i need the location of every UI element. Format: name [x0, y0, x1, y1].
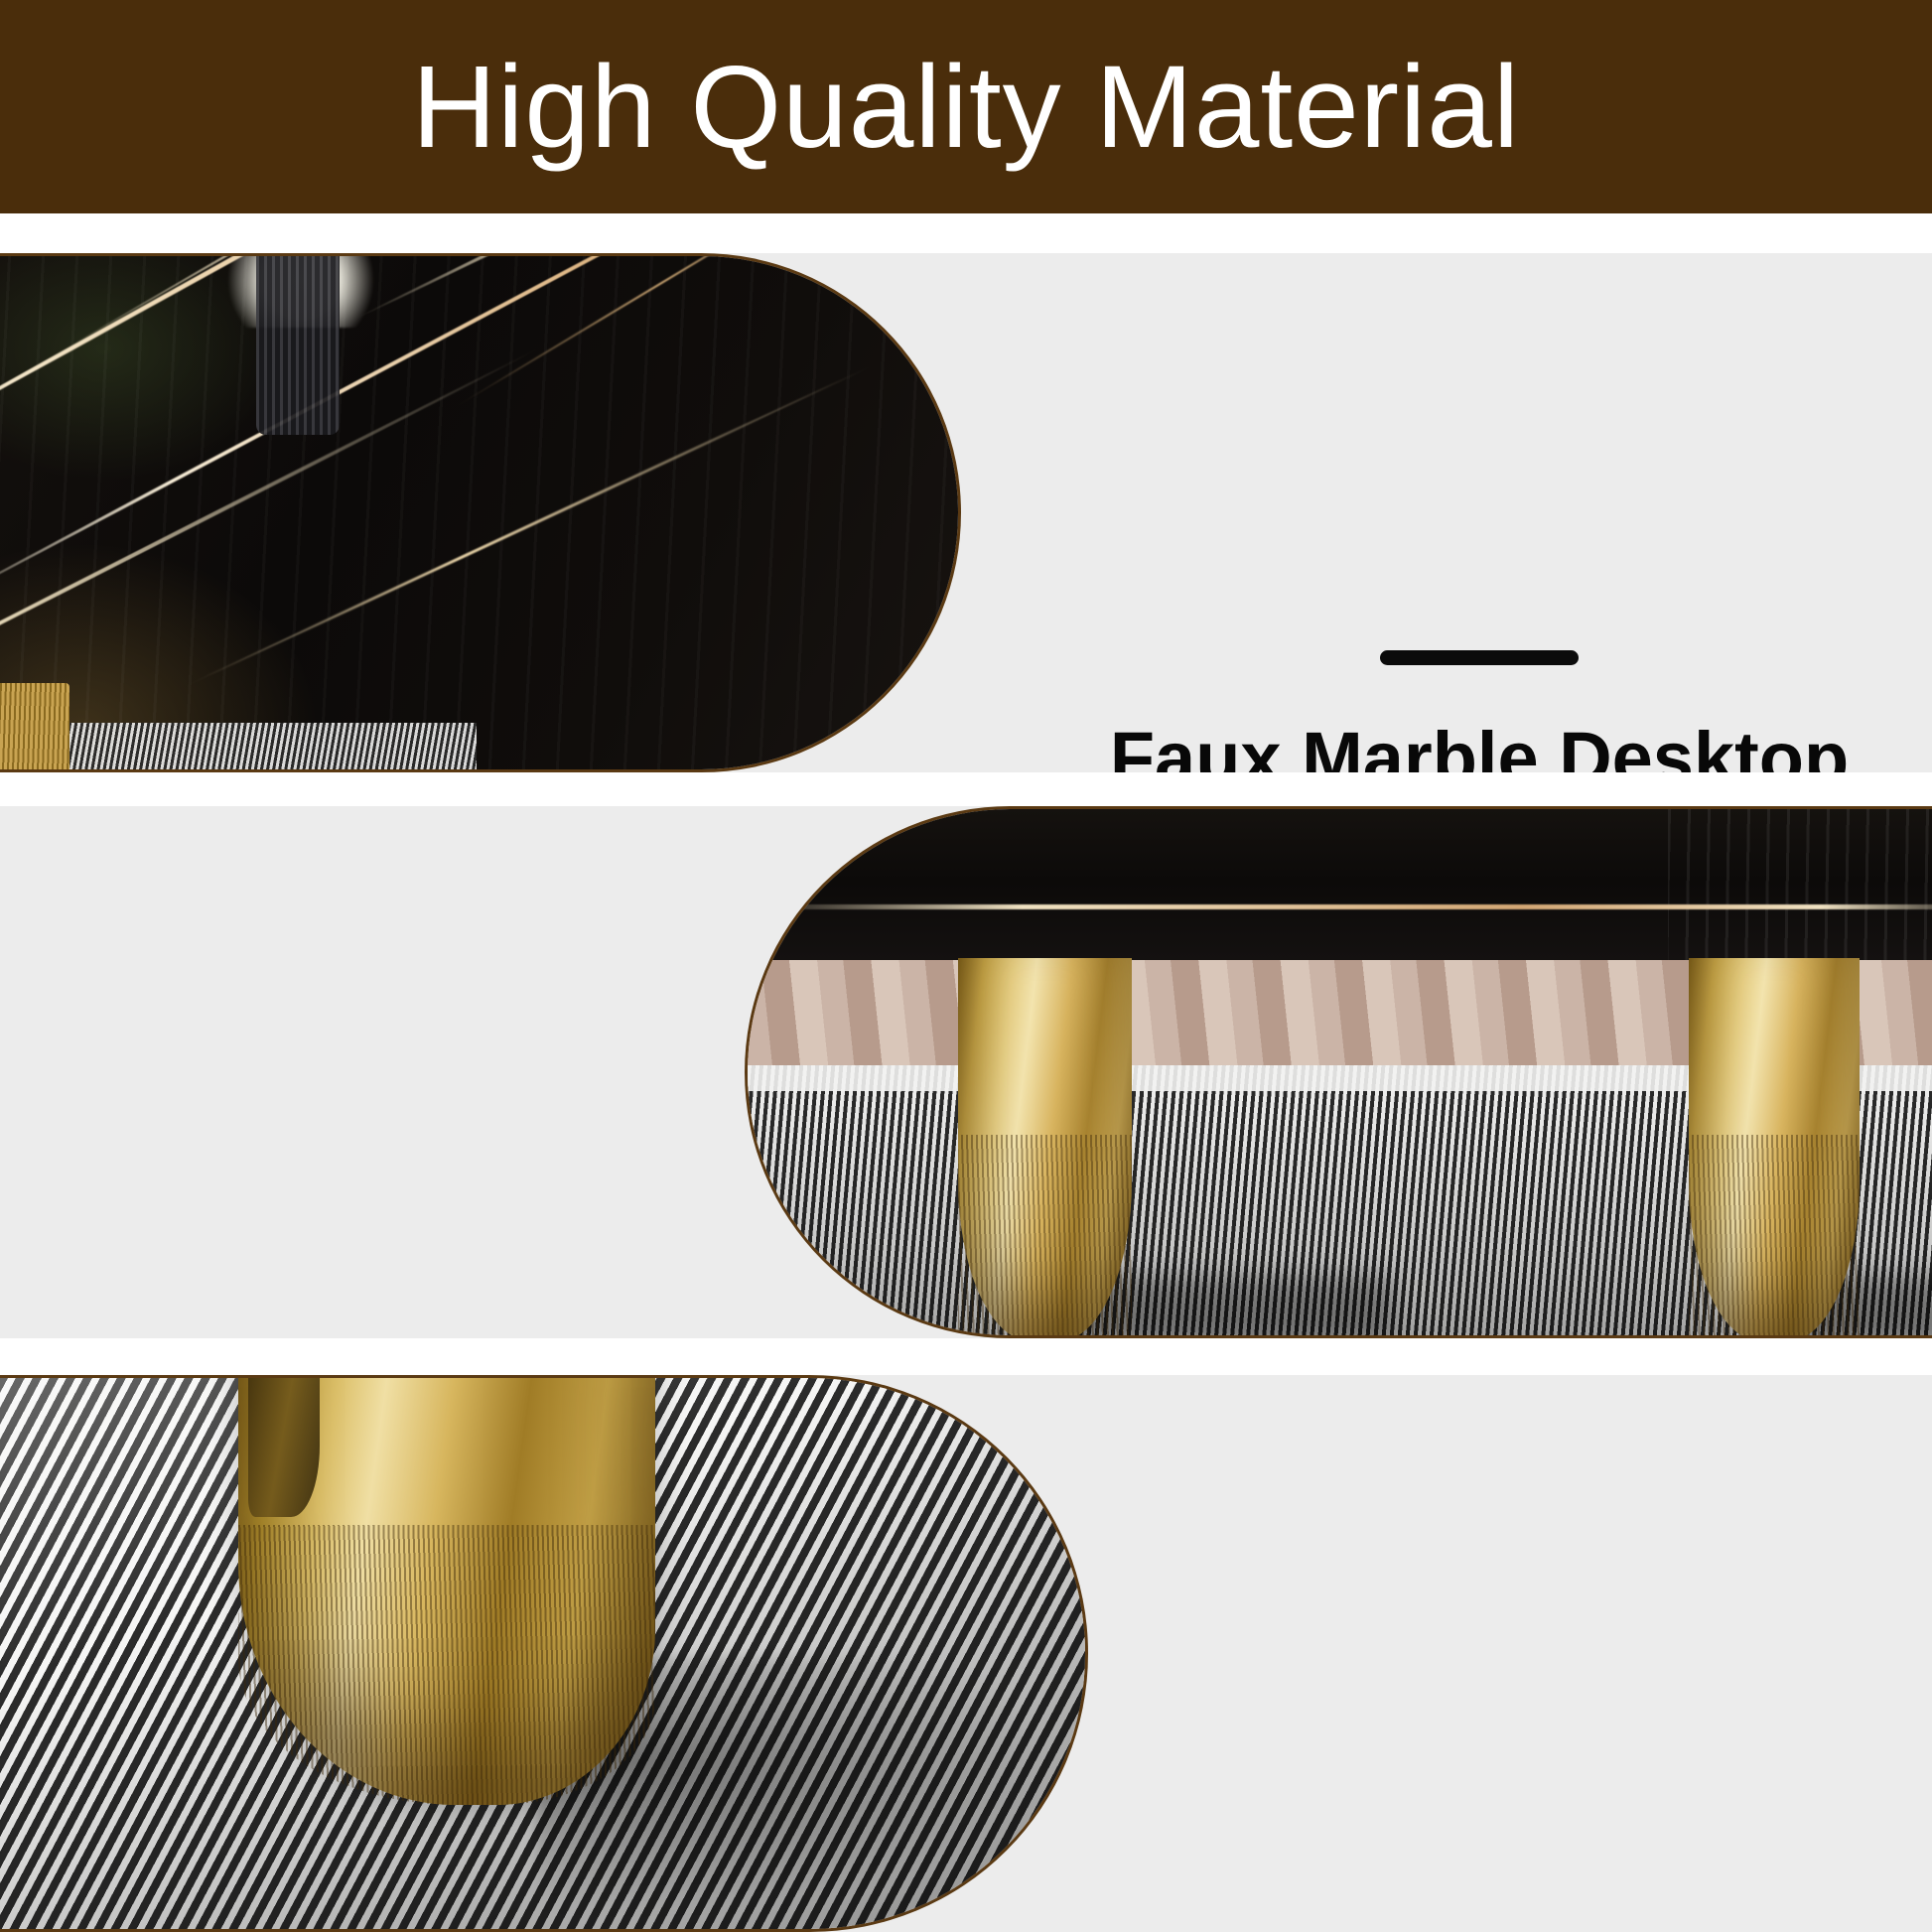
feature-section-metal-legs: Metal Legs Stable Support — [0, 806, 1932, 1338]
product-photo-curved-table-legs — [0, 1375, 1088, 1932]
striped-rug — [60, 723, 477, 772]
feature-section-curved-table-legs: Curved Table Legs Anti-tipping — [0, 1375, 1932, 1932]
gold-table-leg — [1689, 958, 1860, 1338]
marble-vein — [748, 904, 1932, 909]
gold-leg-inner-curve — [248, 1375, 320, 1517]
gold-table-leg — [0, 683, 69, 772]
tabletop-reflection — [1668, 809, 1932, 960]
caption-rule — [1380, 650, 1579, 665]
product-photo-metal-legs — [745, 806, 1932, 1338]
caption-line-1: Faux Marble Desktop — [1110, 717, 1849, 772]
page-title: High Quality Material — [412, 49, 1520, 166]
header-banner: High Quality Material — [0, 0, 1932, 213]
feature-section-faux-marble-desktop: Faux Marble Desktop Easy To Clean — [0, 253, 1932, 772]
fluted-vase — [256, 253, 340, 435]
gold-table-leg — [958, 958, 1132, 1338]
marble-surface-texture — [0, 256, 958, 769]
product-photo-faux-marble-desktop — [0, 253, 961, 772]
feature-caption-faux-marble-desktop: Faux Marble Desktop Easy To Clean — [1052, 650, 1906, 772]
